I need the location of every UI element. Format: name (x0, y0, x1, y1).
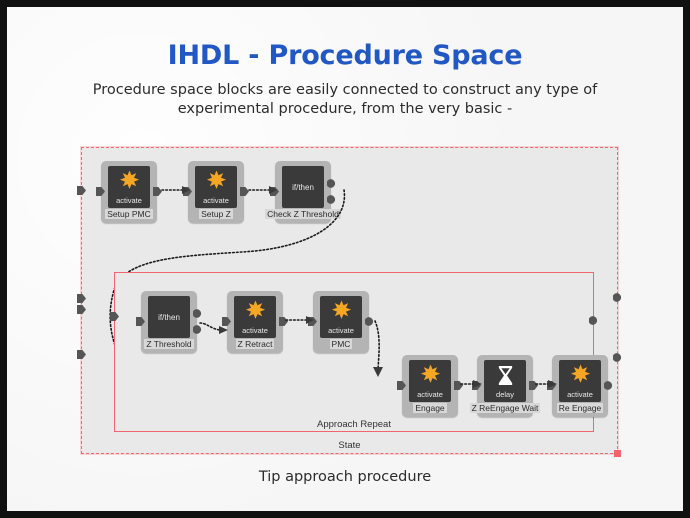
block-re-engage[interactable]: activate Re Engage (552, 355, 608, 417)
figure-caption: Tip approach procedure (7, 469, 683, 485)
block-engage[interactable]: activate Engage (402, 355, 458, 417)
starburst-icon (320, 299, 362, 323)
block-input-port[interactable] (472, 381, 481, 390)
block-inner-panel: if/then (148, 296, 190, 338)
block-inner-label: activate (116, 196, 142, 208)
hourglass-icon (484, 363, 526, 387)
starburst-icon (108, 169, 150, 193)
block-setup-z[interactable]: activate Setup Z (188, 161, 244, 223)
connector-pmc-to-engage (371, 319, 395, 379)
block-input-port[interactable] (270, 187, 279, 196)
block-output-port-false[interactable] (193, 325, 202, 334)
starburst-icon (409, 363, 451, 387)
state-input-port-3[interactable] (77, 305, 86, 314)
block-output-port[interactable] (365, 317, 374, 326)
block-input-port[interactable] (222, 317, 231, 326)
state-input-port-4[interactable] (77, 350, 86, 359)
block-inner-panel: activate (195, 166, 237, 208)
resize-handle[interactable] (614, 450, 621, 457)
state-input-port-1[interactable] (77, 186, 86, 195)
block-label: Check Z Threshold (265, 209, 341, 219)
block-label: PMC (330, 339, 353, 349)
block-inner-label: if/then (158, 313, 180, 322)
block-label: Re Engage (557, 403, 604, 413)
block-output-port[interactable] (604, 381, 613, 390)
block-inner-label: activate (242, 326, 268, 338)
page-subtitle: Procedure space blocks are easily connec… (77, 81, 613, 119)
block-label: Z Threshold (144, 339, 193, 349)
block-inner-label: activate (328, 326, 354, 338)
block-label: Engage (413, 403, 446, 413)
block-input-port[interactable] (308, 317, 317, 326)
block-input-port[interactable] (547, 381, 556, 390)
block-inner-panel: activate (234, 296, 276, 338)
block-output-port[interactable] (153, 187, 162, 196)
starburst-icon (559, 363, 601, 387)
block-input-port[interactable] (183, 187, 192, 196)
block-inner-label: delay (496, 390, 514, 402)
block-output-port[interactable] (240, 187, 249, 196)
block-input-port[interactable] (136, 317, 145, 326)
state-label: State (82, 440, 617, 451)
block-inner-panel: if/then (282, 166, 324, 208)
repeat-output-port[interactable] (589, 316, 598, 325)
block-label: Z Retract (236, 339, 275, 349)
block-output-port[interactable] (279, 317, 288, 326)
block-z-threshold[interactable]: if/then Z Threshold (141, 291, 197, 353)
block-inner-panel: activate (108, 166, 150, 208)
block-inner-panel: activate (409, 360, 451, 402)
slide: IHDL - Procedure Space Procedure space b… (0, 0, 690, 518)
block-output-port[interactable] (454, 381, 463, 390)
approach-repeat-container[interactable]: if/then Z Threshold activate (114, 272, 594, 432)
block-label: Z ReEngage Wait (470, 403, 541, 413)
starburst-icon (234, 299, 276, 323)
block-input-port[interactable] (96, 187, 105, 196)
block-label: Setup PMC (105, 209, 152, 219)
state-input-port-2[interactable] (77, 294, 86, 303)
state-container[interactable]: activate Setup PMC activate Setup Z (81, 147, 618, 454)
state-output-port-2[interactable] (613, 353, 622, 362)
slide-background: IHDL - Procedure Space Procedure space b… (7, 7, 683, 511)
block-output-port[interactable] (529, 381, 538, 390)
block-z-retract[interactable]: activate Z Retract (227, 291, 283, 353)
block-inner-label: activate (567, 390, 593, 402)
block-inner-panel: activate (559, 360, 601, 402)
block-input-port[interactable] (397, 381, 406, 390)
repeat-input-port[interactable] (110, 312, 119, 321)
state-output-port-1[interactable] (613, 293, 622, 302)
block-label: Setup Z (199, 209, 233, 219)
page-title: IHDL - Procedure Space (7, 40, 683, 71)
block-output-port-false[interactable] (327, 195, 336, 204)
block-output-port-true[interactable] (327, 179, 336, 188)
block-inner-panel: activate (320, 296, 362, 338)
block-setup-pmc[interactable]: activate Setup PMC (101, 161, 157, 223)
block-pmc[interactable]: activate PMC (313, 291, 369, 353)
block-z-reengage-wait[interactable]: delay Z ReEngage Wait (477, 355, 533, 417)
approach-repeat-label: Approach Repeat (115, 419, 593, 430)
block-output-port-true[interactable] (193, 309, 202, 318)
block-check-z-threshold[interactable]: if/then Check Z Threshold (275, 161, 331, 223)
block-inner-label: activate (417, 390, 443, 402)
block-inner-label: activate (203, 196, 229, 208)
block-inner-label: if/then (292, 183, 314, 192)
starburst-icon (195, 169, 237, 193)
block-inner-panel: delay (484, 360, 526, 402)
